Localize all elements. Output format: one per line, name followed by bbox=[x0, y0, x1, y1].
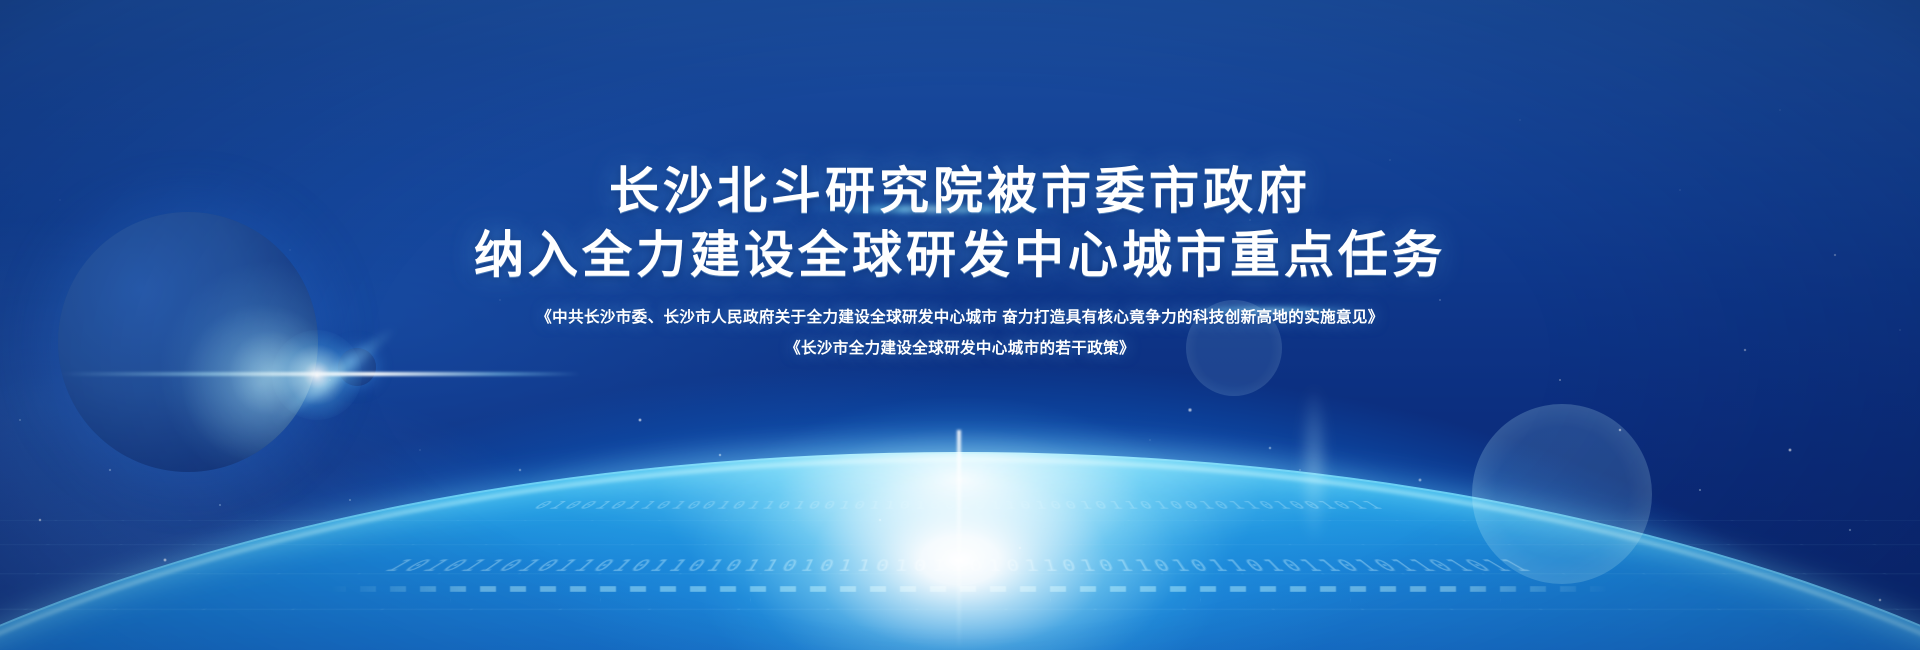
banner-subtitle-line-1: 《中共长沙市委、长沙市人民政府关于全力建设全球研发中心城市 奋力打造具有核心竟争… bbox=[536, 307, 1383, 329]
banner-title-line-1: 长沙北斗研究院被市委市政府 bbox=[609, 163, 1311, 219]
banner-subtitle-line-2: 《长沙市全力建设全球研发中心城市的若干政策》 bbox=[785, 338, 1135, 360]
banner-title-line-2: 纳入全力建设全球研发中心城市重点任务 bbox=[474, 227, 1446, 283]
hero-banner: 0100101101001011010010110100101101001011… bbox=[0, 0, 1920, 650]
banner-text-block: 长沙北斗研究院被市委市政府 纳入全力建设全球研发中心城市重点任务 《中共长沙市委… bbox=[0, 0, 1920, 650]
